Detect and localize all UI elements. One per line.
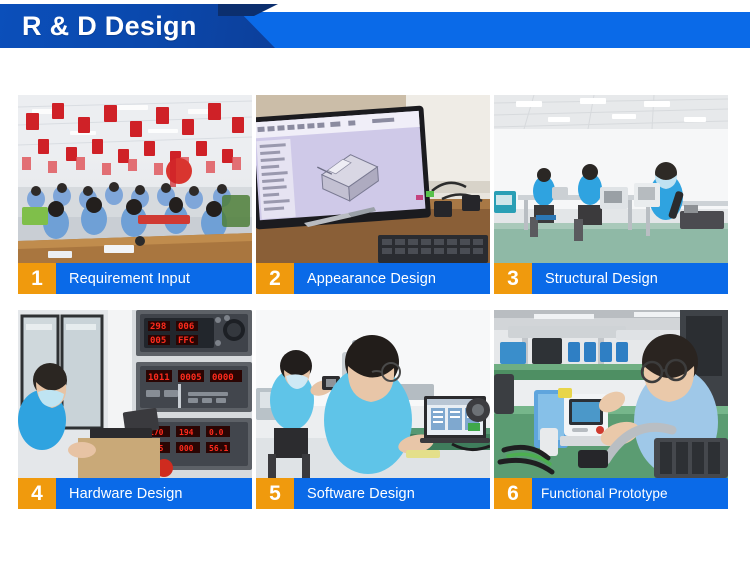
card-label: Structural Design <box>532 263 728 294</box>
card-photo-appearance-design <box>256 95 490 263</box>
card-label: Software Design <box>294 478 490 509</box>
process-card-grid: 1 Requirement Input <box>18 95 732 525</box>
card-number: 4 <box>18 478 56 509</box>
card-number: 6 <box>494 478 532 509</box>
process-card[interactable]: 3 Structural Design <box>494 95 728 305</box>
svg-text:0000: 0000 <box>212 373 234 383</box>
svg-text:1011: 1011 <box>148 373 170 383</box>
card-label: Requirement Input <box>56 263 252 294</box>
process-card[interactable]: 6 Functional Prototype <box>494 310 728 520</box>
svg-text:FFC: FFC <box>178 336 194 346</box>
card-number: 1 <box>18 263 56 294</box>
card-photo-requirement-input <box>18 95 252 263</box>
card-caption: 1 Requirement Input <box>18 263 252 294</box>
card-caption: 3 Structural Design <box>494 263 728 294</box>
svg-text:194: 194 <box>179 428 194 437</box>
process-card[interactable]: 1 Requirement Input <box>18 95 252 305</box>
svg-text:000: 000 <box>179 444 194 453</box>
card-number: 2 <box>256 263 294 294</box>
svg-text:0.0: 0.0 <box>209 428 224 437</box>
card-caption: 4 Hardware Design <box>18 478 252 509</box>
page-title: R & D Design <box>22 10 197 42</box>
card-label: Appearance Design <box>294 263 490 294</box>
svg-text:005: 005 <box>150 336 166 346</box>
card-caption: 2 Appearance Design <box>256 263 490 294</box>
card-photo-structural-design <box>494 95 728 263</box>
card-label: Hardware Design <box>56 478 252 509</box>
process-card[interactable]: 5 Software Design <box>256 310 490 520</box>
card-photo-software-design <box>256 310 490 478</box>
svg-text:56.1: 56.1 <box>209 444 228 453</box>
process-card[interactable]: 298006 005FFC 1011 0005 0000 <box>18 310 252 520</box>
card-photo-hardware-design: 298006 005FFC 1011 0005 0000 <box>18 310 252 478</box>
svg-text:0005: 0005 <box>180 373 202 383</box>
page-header: R & D Design <box>0 4 750 48</box>
card-label: Functional Prototype <box>532 478 728 509</box>
card-photo-functional-prototype <box>494 310 728 478</box>
svg-text:006: 006 <box>178 322 194 332</box>
card-number: 5 <box>256 478 294 509</box>
card-number: 3 <box>494 263 532 294</box>
card-caption: 6 Functional Prototype <box>494 478 728 509</box>
svg-text:298: 298 <box>150 322 166 332</box>
card-caption: 5 Software Design <box>256 478 490 509</box>
process-card[interactable]: 2 Appearance Design <box>256 95 490 305</box>
